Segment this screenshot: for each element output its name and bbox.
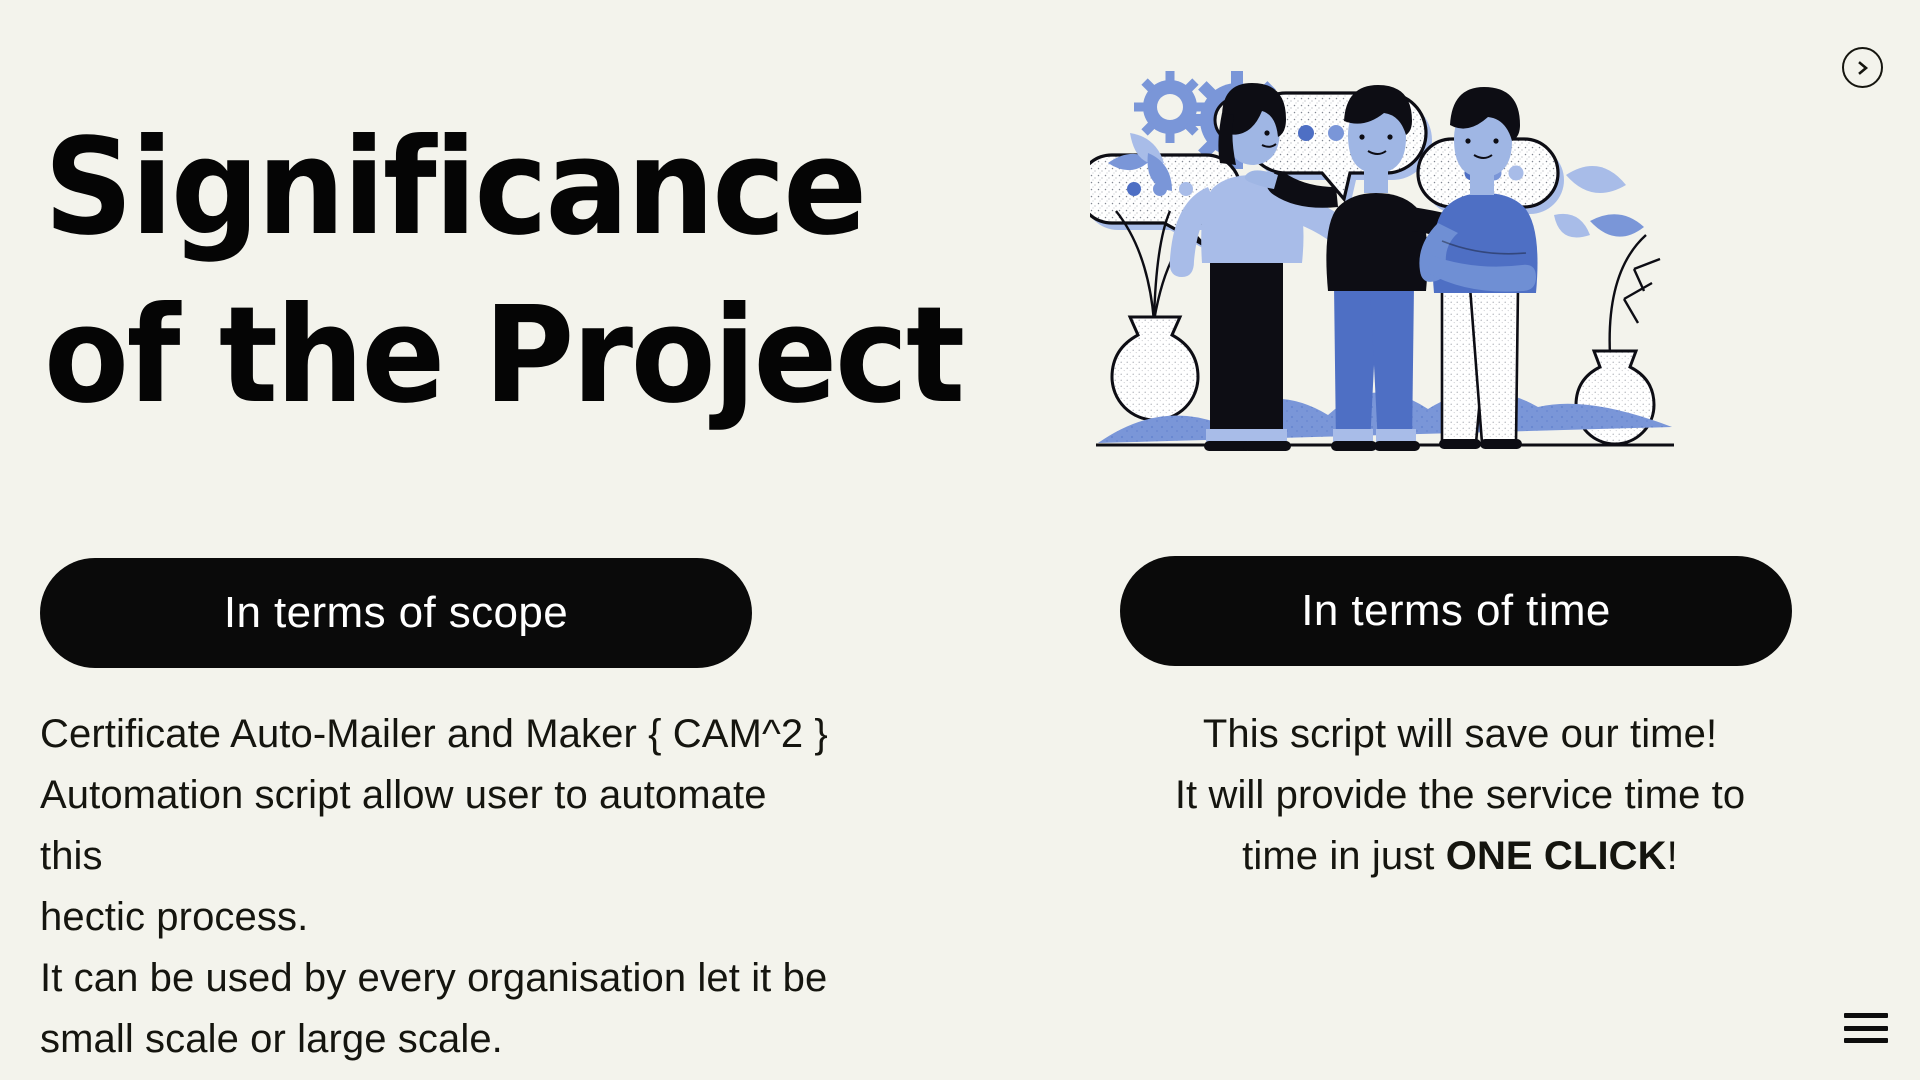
right-paragraph-line-3: time in just ONE CLICK! bbox=[1120, 826, 1800, 887]
left-paragraph-line-3: hectic process. bbox=[40, 887, 830, 948]
right-paragraph-line-1: This script will save our time! bbox=[1120, 704, 1800, 765]
left-paragraph-line-5: small scale or large scale. bbox=[40, 1009, 830, 1070]
right-paragraph-line-3-suffix: ! bbox=[1667, 834, 1678, 878]
left-paragraph-line-4: It can be used by every organisation let… bbox=[40, 948, 830, 1009]
right-column: In terms of time This script will save o… bbox=[1120, 556, 1800, 887]
hamburger-line-3 bbox=[1844, 1038, 1888, 1043]
in-terms-of-scope-label: In terms of scope bbox=[224, 588, 568, 638]
left-column-paragraph: Certificate Auto-Mailer and Maker { CAM^… bbox=[40, 704, 830, 1070]
left-paragraph-line-2: Automation script allow user to automate… bbox=[40, 765, 830, 887]
left-paragraph-line-1: Certificate Auto-Mailer and Maker { CAM^… bbox=[40, 704, 830, 765]
right-column-paragraph: This script will save our time! It will … bbox=[1120, 704, 1800, 887]
plant-right bbox=[1554, 166, 1660, 444]
page-title-line-1: Significance bbox=[44, 104, 983, 272]
three-people-discussion-illustration bbox=[1090, 55, 1680, 475]
hamburger-line-2 bbox=[1844, 1026, 1888, 1031]
page-title-line-2: of the Project bbox=[44, 272, 983, 440]
right-paragraph-line-2: It will provide the service time to bbox=[1120, 765, 1800, 826]
hamburger-menu-button[interactable] bbox=[1844, 1013, 1888, 1043]
slide-canvas: Significance of the Project bbox=[0, 0, 1920, 1080]
left-column: In terms of scope Certificate Auto-Maile… bbox=[40, 558, 830, 1070]
one-click-emphasis: ONE CLICK bbox=[1446, 834, 1667, 878]
page-title: Significance of the Project bbox=[44, 104, 1054, 440]
next-slide-button[interactable] bbox=[1842, 47, 1883, 88]
chevron-right-icon bbox=[1856, 60, 1870, 76]
in-terms-of-time-button[interactable]: In terms of time bbox=[1120, 556, 1792, 666]
gear-small-icon bbox=[1134, 71, 1206, 143]
hamburger-line-1 bbox=[1844, 1013, 1888, 1018]
in-terms-of-time-label: In terms of time bbox=[1301, 586, 1611, 636]
right-paragraph-line-3-prefix: time in just bbox=[1242, 834, 1446, 878]
in-terms-of-scope-button[interactable]: In terms of scope bbox=[40, 558, 752, 668]
